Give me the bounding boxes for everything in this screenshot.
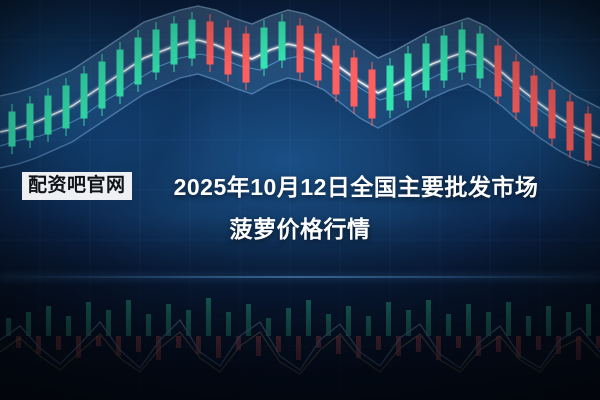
headline-line-2: 菠萝价格行情 (16, 208, 584, 250)
pane-divider (0, 276, 600, 278)
headline-line-1: 2025年10月12日全国主要批发市场 (16, 166, 584, 208)
screenshot-canvas: 配资吧官网 2025年10月12日全国主要批发市场 菠萝价格行情 (0, 0, 600, 400)
headline-text: 2025年10月12日全国主要批发市场 菠萝价格行情 (0, 166, 600, 250)
